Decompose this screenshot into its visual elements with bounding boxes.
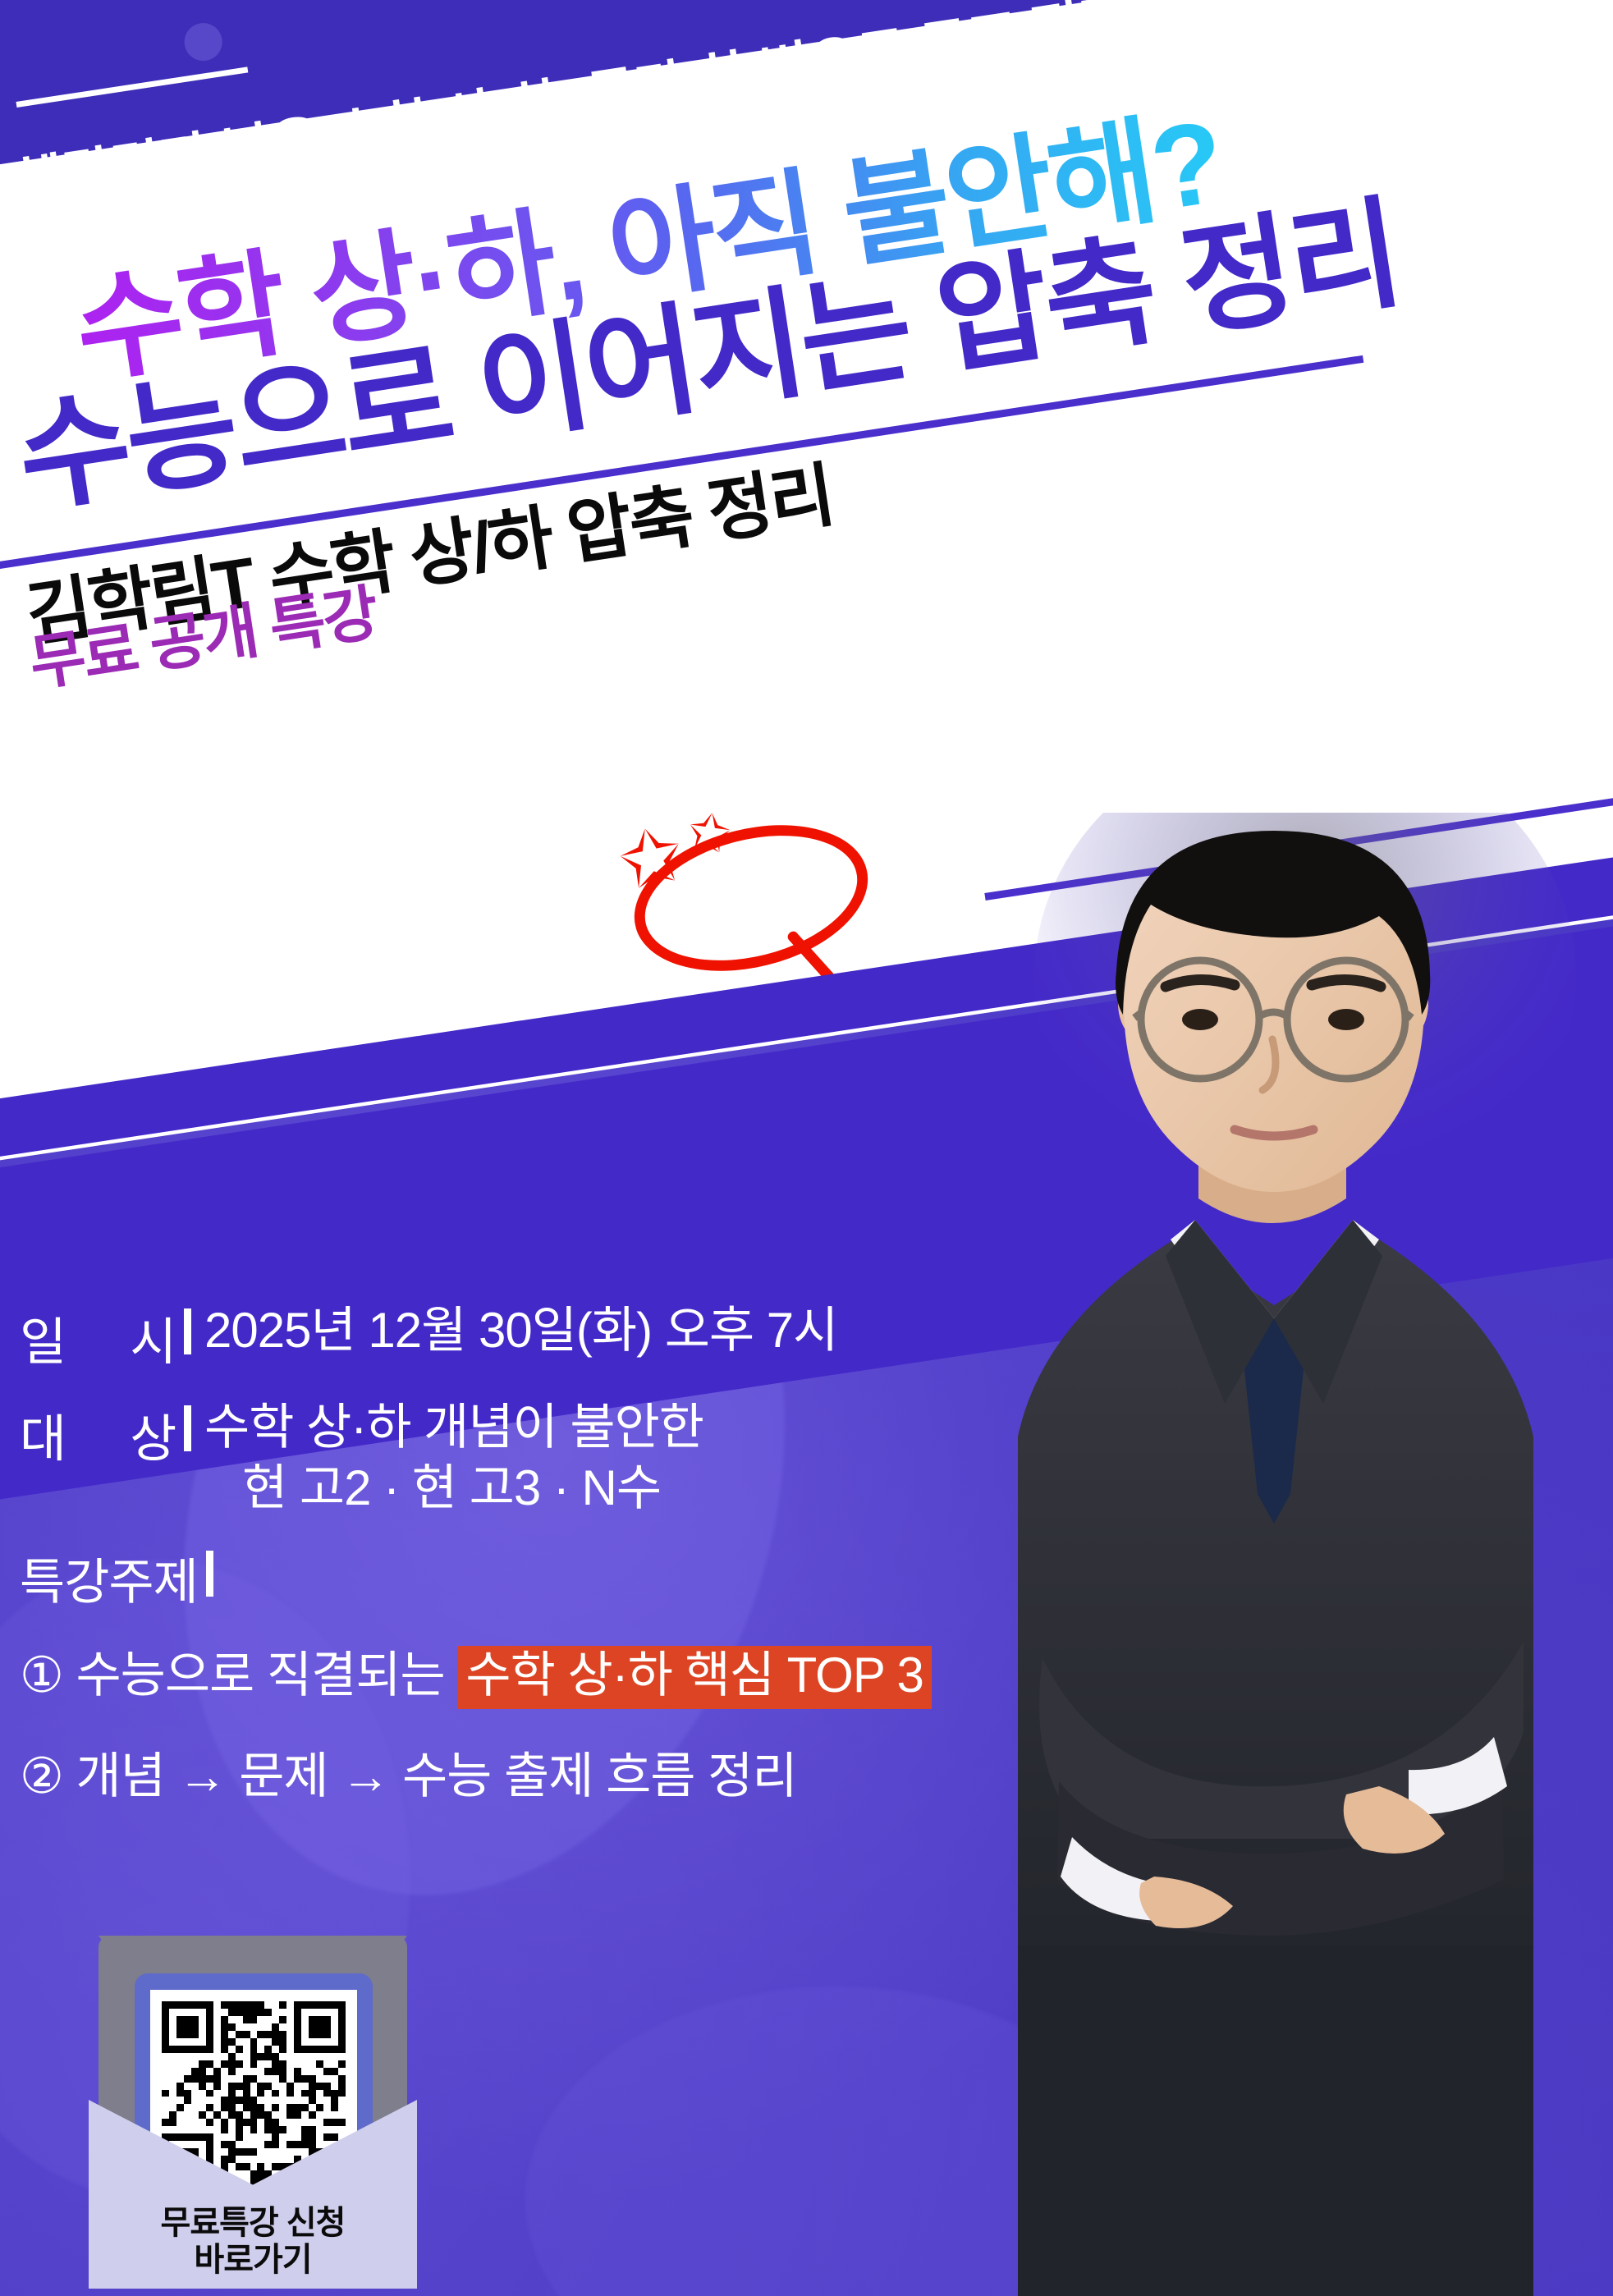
cta-label: 무료특강 신청 바로가기 [48, 2205, 458, 2279]
info-row-audience: 대 상 수학 상·하 개념이 불안한 현 고2 · 현 고3 · N수 [20, 1397, 1070, 1519]
star-icon: ✩ [685, 806, 734, 863]
cta-label-line2: 바로가기 [194, 2242, 311, 2278]
topic-item-1: ① 수능으로 직결되는 수학 상·하 핵심 TOP 3 [20, 1635, 1070, 1707]
cta-envelope-qr[interactable]: 무료특강 신청 바로가기 [48, 1903, 458, 2289]
info-row-bar [184, 1308, 191, 1354]
topics-bar [206, 1551, 213, 1597]
info-row-bar [184, 1405, 191, 1451]
info-row-label: 일 시 [20, 1300, 181, 1374]
topic-item-2: ② 개념 → 문제 → 수능 출제 흐름 정리 [20, 1736, 1070, 1808]
topics-header: 특강주제 [20, 1542, 1070, 1614]
topic-1-highlight: 수학 상·하 핵심 TOP 3 [457, 1646, 931, 1709]
cta-label-line1: 무료특강 신청 [161, 2205, 346, 2241]
info-row-value: 2025년 12월 30일(화) 오후 7시 [204, 1300, 837, 1361]
topic-1-prefix: ① 수능으로 직결되는 [20, 1648, 457, 1703]
poster-root: 헷갈림만 남은 수학 상·하, 특강 한 번으로 구조 정리 수학 상·하, 아… [0, 0, 1613, 2296]
info-row-datetime: 일 시 2025년 12월 30일(화) 오후 7시 [20, 1300, 1070, 1374]
topics-label: 특강주제 [20, 1542, 198, 1614]
topic-2-prefix: ② 개념 → 문제 → 수능 출제 흐름 정리 [20, 1748, 797, 1803]
info-row-label: 대 상 [20, 1397, 181, 1471]
info-row-value-line2: 현 고2 · 현 고3 · N수 [242, 1458, 703, 1519]
info-row-value: 수학 상·하 개념이 불안한 현 고2 · 현 고3 · N수 [204, 1397, 703, 1519]
info-block: 일 시 2025년 12월 30일(화) 오후 7시 대 상 수학 상·하 개념… [20, 1300, 1070, 1837]
info-row-value-line1: 수학 상·하 개념이 불안한 [204, 1400, 703, 1455]
decor-dot [181, 21, 224, 63]
